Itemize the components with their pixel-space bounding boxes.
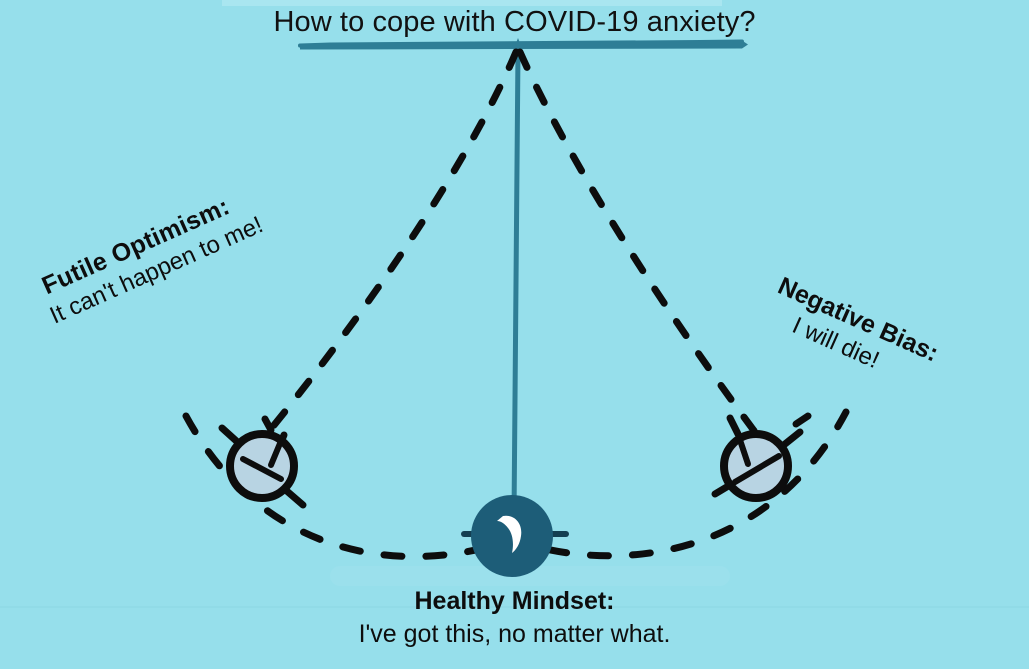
center-bob[interactable] (464, 495, 566, 577)
swing-guide-right (520, 52, 770, 452)
pendulum-rod (508, 38, 528, 516)
diagram-canvas: How to cope with COVID-19 anxiety? Futil… (0, 0, 1029, 669)
page-title: How to cope with COVID-19 anxiety? (0, 6, 1029, 39)
label-healthy-mindset-head: Healthy Mindset: (0, 585, 1029, 618)
support-bar (300, 41, 748, 50)
left-ball[interactable] (222, 419, 303, 505)
label-healthy-mindset: Healthy Mindset: I've got this, no matte… (0, 585, 1029, 651)
swing-guide-left (252, 52, 516, 452)
right-ball-body (724, 434, 788, 498)
label-healthy-mindset-sub: I've got this, no matter what. (0, 618, 1029, 652)
